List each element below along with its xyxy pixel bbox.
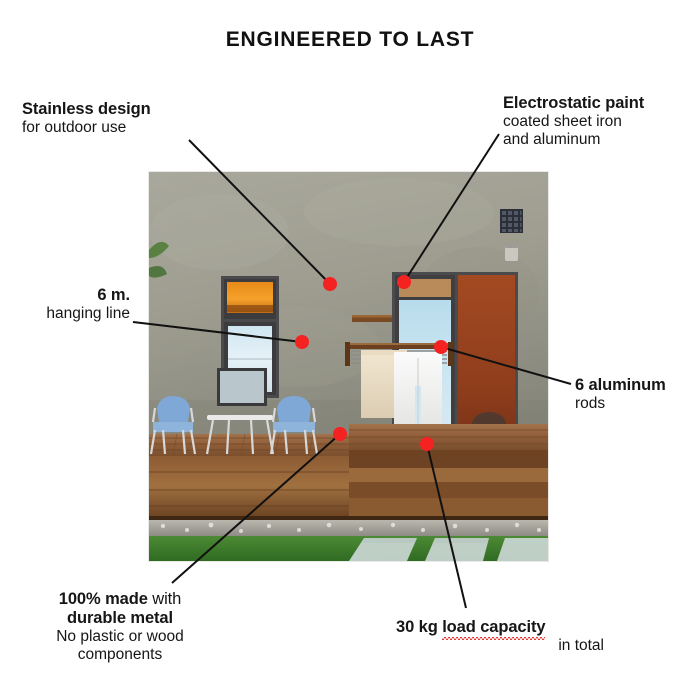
callout-hanging-sub: hanging line (0, 305, 130, 323)
callout-rods: 6 aluminum rods (575, 376, 666, 413)
callout-metal-light: with (148, 590, 181, 608)
callout-metal-headline-1: 100% made with (18, 590, 222, 609)
callout-metal-sub-1: No plastic or wood (18, 628, 222, 646)
patio-drying-rack-photo (148, 171, 549, 562)
callout-load-headline: 30 kg load capacity (396, 618, 604, 637)
callout-metal-headline-2: durable metal (18, 609, 222, 628)
callout-rods-headline: 6 aluminum (575, 376, 666, 395)
callout-hanging-line: 6 m. hanging line (0, 286, 130, 323)
page-title: ENGINEERED TO LAST (0, 28, 700, 52)
callout-paint-sub-2: and aluminum (503, 131, 644, 149)
callout-paint-headline: Electrostatic paint (503, 94, 644, 113)
callout-stainless: Stainless design for outdoor use (22, 100, 151, 137)
callout-rods-sub: rods (575, 395, 666, 413)
callout-load-weight: 30 kg (396, 618, 442, 636)
callout-metal-bold: 100% made (59, 590, 148, 608)
callout-metal-sub-2: components (18, 646, 222, 664)
product-infographic: ENGINEERED TO LAST (0, 0, 700, 700)
callout-paint-sub-1: coated sheet iron (503, 113, 644, 131)
callout-stainless-sub: for outdoor use (22, 119, 151, 137)
callout-paint: Electrostatic paint coated sheet iron an… (503, 94, 644, 149)
callout-stainless-headline: Stainless design (22, 100, 151, 119)
callout-durable-metal: 100% made with durable metal No plastic … (18, 590, 222, 664)
callout-load-capacity: 30 kg load capacity in total (396, 618, 604, 655)
callout-hanging-headline: 6 m. (0, 286, 130, 305)
callout-load-flagged-text: load capacity (442, 618, 545, 637)
